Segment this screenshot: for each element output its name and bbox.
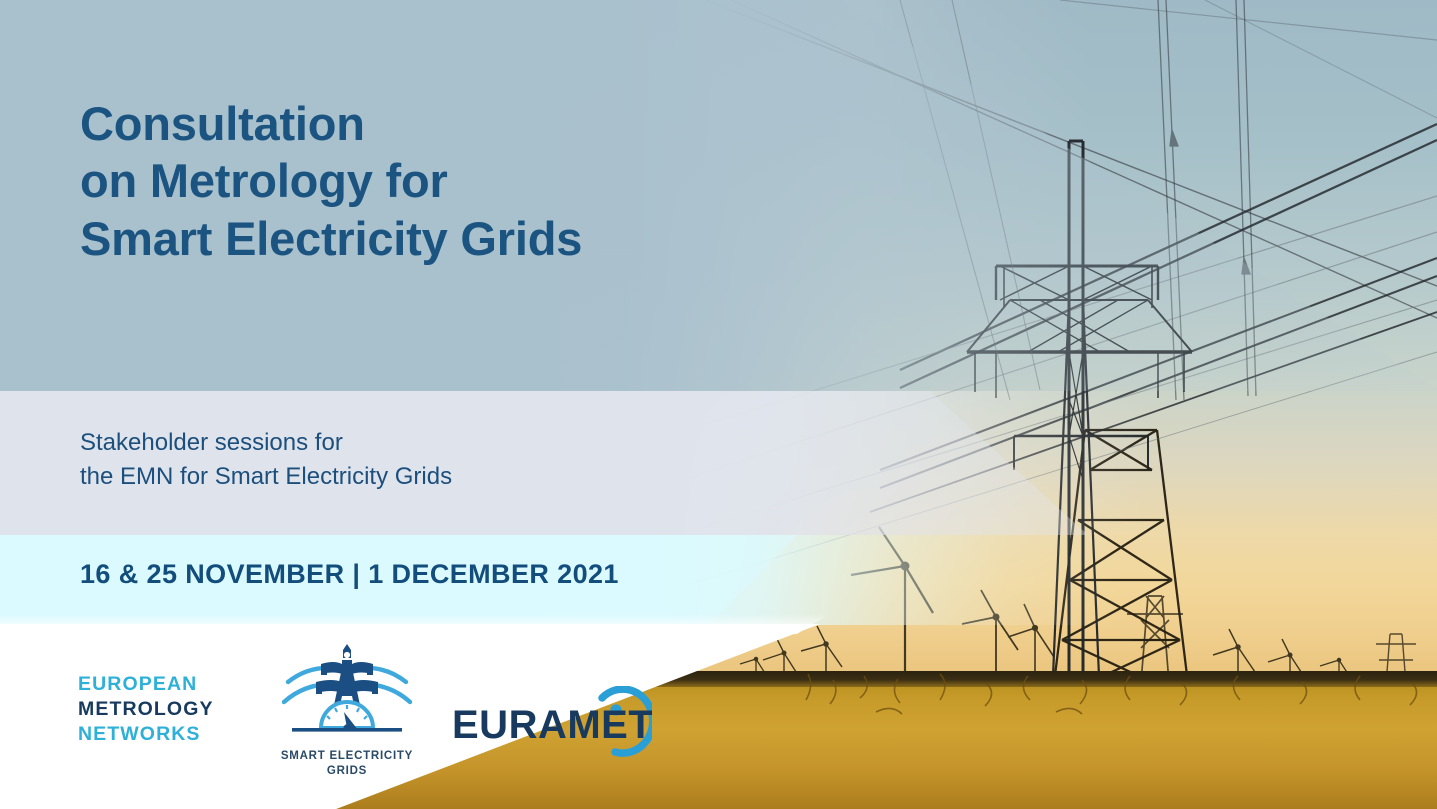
pylon-gauge-icon: [272, 644, 422, 742]
smart-electricity-grids-logo: SMART ELECTRICITY GRIDS: [272, 644, 422, 779]
seg-caption: SMART ELECTRICITY GRIDS: [272, 749, 422, 779]
european-metrology-networks-logo: EUROPEAN METROLOGY NETWORKS: [78, 672, 214, 746]
emn-line-3: NETWORKS: [78, 722, 214, 747]
logo-row: EUROPEAN METROLOGY NETWORKS: [0, 624, 700, 809]
euramet-wordmark-icon: EURAMET: [452, 686, 652, 762]
page-title: Consultation on Metrology for Smart Elec…: [80, 95, 582, 267]
euramet-wordmark-text: EURAMET: [452, 703, 652, 747]
subtitle: Stakeholder sessions for the EMN for Sma…: [80, 426, 452, 494]
dateline: 16 & 25 NOVEMBER | 1 DECEMBER 2021: [80, 559, 619, 590]
seg-caption-line-2: GRIDS: [272, 764, 422, 779]
emn-line-1: EUROPEAN: [78, 672, 214, 697]
emn-line-2: METROLOGY: [78, 697, 214, 722]
seg-caption-line-1: SMART ELECTRICITY: [272, 749, 422, 764]
euramet-logo: EURAMET: [452, 686, 652, 767]
poster-slide: Consultation on Metrology for Smart Elec…: [0, 0, 1437, 809]
